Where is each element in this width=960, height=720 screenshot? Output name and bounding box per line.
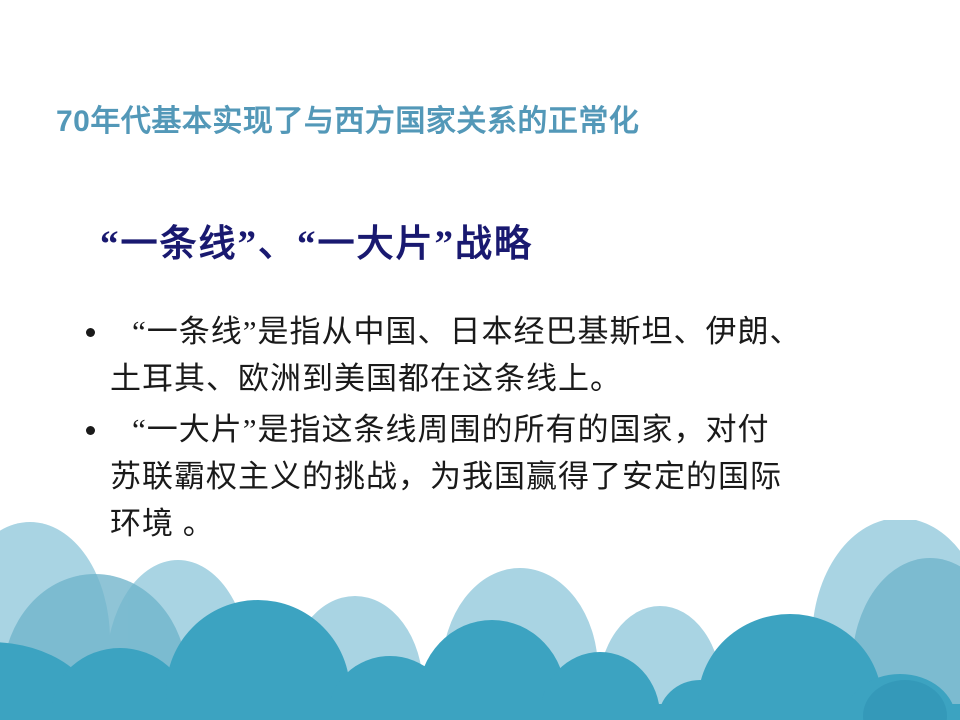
page-title: 70年代基本实现了与西方国家关系的正常化: [56, 96, 916, 140]
cloud-shape: [930, 576, 960, 720]
cloud-base-band: [0, 704, 960, 720]
cloud-shape: [540, 652, 660, 720]
cloud-shape: [0, 642, 100, 720]
cloud-shape: [0, 522, 110, 720]
cloud-shape: [412, 652, 492, 720]
bullet-line: 苏联霸权主义的挑战，为我国赢得了安定的国际: [110, 453, 940, 500]
cloud-shape: [52, 648, 188, 720]
cloud-shape: [328, 656, 452, 720]
bullet-list: “一条线”是指从中国、日本经巴基斯坦、伊朗、 土耳其、欧洲到美国都在这条线上。 …: [78, 308, 940, 551]
cloud-shape: [287, 596, 423, 720]
cloud-shape: [418, 620, 566, 720]
list-item: “一大片”是指这条线周围的所有的国家，对付 苏联霸权主义的挑战，为我国赢得了安定…: [78, 406, 940, 547]
cloud-shape: [186, 616, 330, 720]
cloud-layer-mid: [3, 558, 960, 720]
cloud-shape: [106, 560, 250, 720]
slide-subtitle: “一条线”、“一大片”战略: [100, 213, 900, 267]
cloud-shape: [442, 568, 598, 720]
bullet-line: “一大片”是指这条线周围的所有的国家，对付: [132, 412, 770, 447]
cloud-shape: [658, 680, 742, 720]
cloud-shape: [166, 600, 350, 720]
list-item: “一条线”是指从中国、日本经巴基斯坦、伊朗、 土耳其、欧洲到美国都在这条线上。: [78, 308, 940, 402]
cloud-layer-accent: [863, 680, 947, 720]
cloud-shape: [863, 680, 947, 720]
cloud-shape: [598, 606, 722, 720]
cloud-shape: [3, 574, 187, 720]
cloud-shape: [844, 674, 956, 720]
cloud-layer-front: [0, 600, 960, 720]
cloud-shape: [852, 558, 960, 720]
cloud-shape: [738, 640, 842, 720]
slide-canvas: 70年代基本实现了与西方国家关系的正常化 “一条线”、“一大片”战略 “一条线”…: [0, 0, 960, 720]
bullet-line: 环境 。: [110, 500, 940, 547]
bullet-line: “一条线”是指从中国、日本经巴基斯坦、伊朗、: [132, 314, 802, 349]
cloud-shape: [698, 614, 882, 720]
bullet-line: 土耳其、欧洲到美国都在这条线上。: [110, 355, 940, 402]
